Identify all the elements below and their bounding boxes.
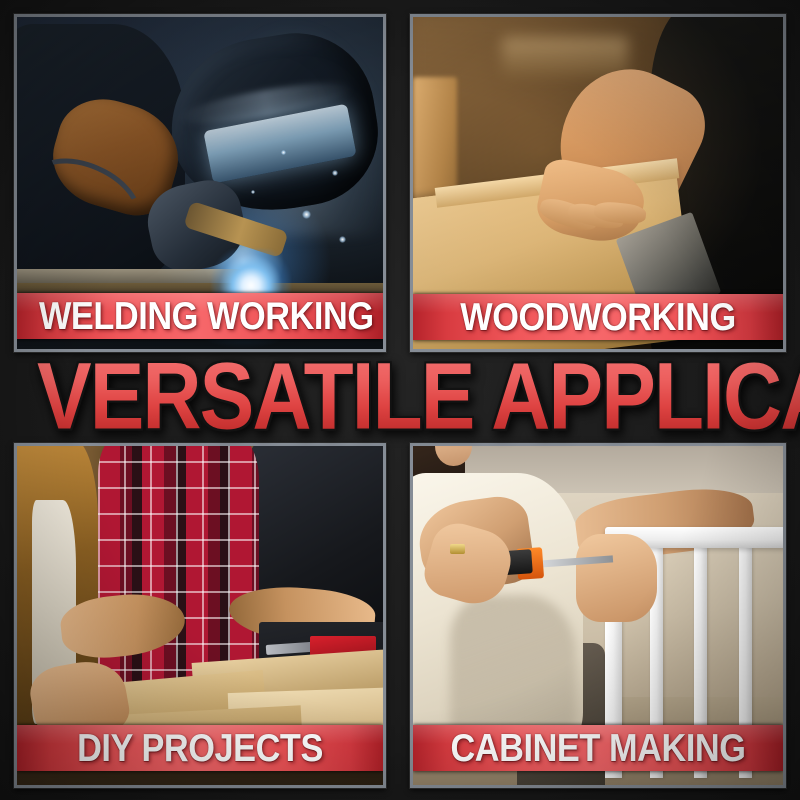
cabinet-wedding-ring: [450, 544, 465, 554]
weld-spark: [251, 190, 255, 194]
cabinet-hand-right: [576, 534, 657, 622]
main-title: VERSATILE APPLICATION: [0, 356, 800, 436]
weld-spark: [281, 150, 286, 155]
panel-welding[interactable]: WELDING WORKING: [14, 14, 386, 352]
panel-label-woodworking: WOODWORKING: [435, 298, 761, 337]
poster-canvas: WELDING WORKING WOODWORKING: [0, 0, 800, 800]
weld-spark: [339, 236, 346, 243]
panel-diy-projects[interactable]: DIY PROJECTS: [14, 443, 386, 788]
panel-label-cabinet-making: CABINET MAKING: [435, 729, 761, 768]
cabinet-shirt-shadow: [450, 595, 576, 744]
panel-label-welding: WELDING WORKING: [39, 297, 361, 336]
panel-woodworking[interactable]: WOODWORKING: [410, 14, 786, 352]
weld-spark: [332, 170, 338, 176]
panel-label-diy-projects: DIY PROJECTS: [39, 729, 361, 768]
main-title-text: VERSATILE APPLICATION: [37, 353, 800, 439]
panel-cabinet-making[interactable]: CABINET MAKING: [410, 443, 786, 788]
